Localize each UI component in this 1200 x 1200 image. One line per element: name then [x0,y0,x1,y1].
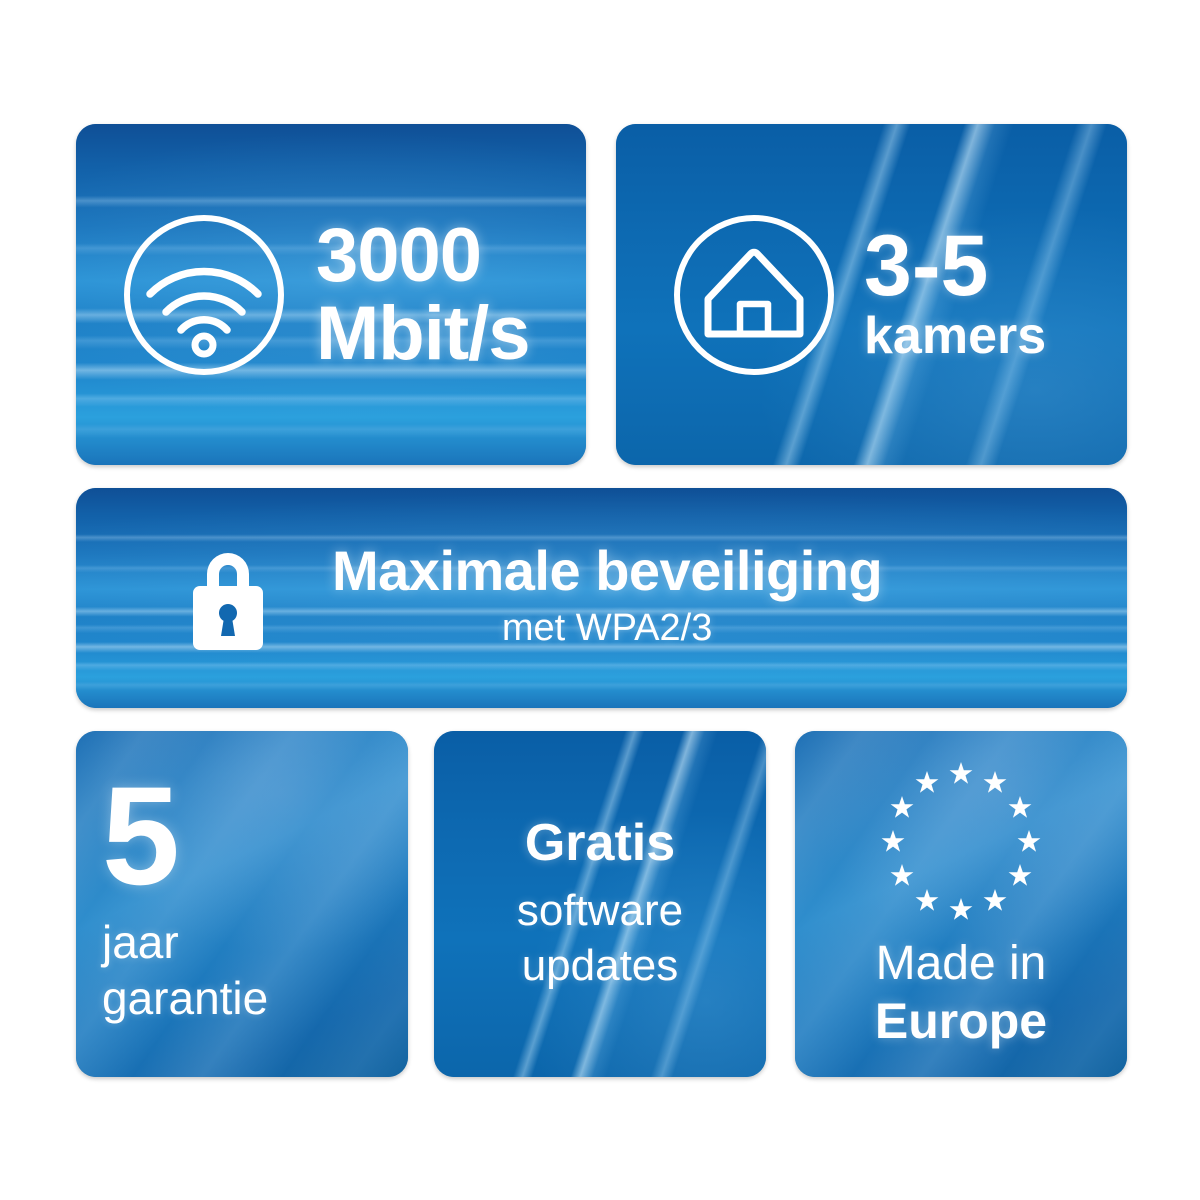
security-headline: Maximale beveiliging [332,542,882,600]
rooms-label: kamers [864,309,1046,364]
tile-content: Made in Europe [795,731,1127,1077]
padlock-icon [180,540,276,656]
tile-content: 5 jaar garantie [76,731,408,1077]
warranty-line-1: jaar [102,914,179,970]
feature-tile-board: 3000 Mbit/s 3-5 kamers [0,0,1200,1200]
feature-tile-origin: Made in Europe [795,731,1127,1077]
feature-tile-speed: 3000 Mbit/s [76,124,586,465]
speed-value: 3000 [316,217,530,295]
origin-line-1: Made in [876,936,1047,992]
security-text-block: Maximale beveiliging met WPA2/3 [332,542,922,654]
warranty-line-2: garantie [102,970,268,1026]
rooms-value: 3-5 [864,225,1046,308]
rooms-text-block: 3-5 kamers [864,225,1046,364]
speed-unit: Mbit/s [316,295,530,373]
feature-tile-rooms: 3-5 kamers [616,124,1127,465]
origin-line-2: Europe [875,992,1047,1050]
security-subline: met WPA2/3 [332,604,882,653]
feature-tile-warranty: 5 jaar garantie [76,731,408,1077]
updates-headline: Gratis [525,815,675,872]
updates-line-2: updates [522,938,679,993]
feature-tile-updates: Gratis software updates [434,731,766,1077]
eu-stars-icon [871,752,1051,922]
tile-content: Maximale beveiliging met WPA2/3 [76,488,1127,708]
tile-content: 3000 Mbit/s [76,124,586,465]
warranty-number: 5 [102,776,178,896]
speed-text-block: 3000 Mbit/s [316,217,530,372]
tile-content: Gratis software updates [434,731,766,1077]
house-icon [668,209,840,381]
wifi-icon [118,209,290,381]
tile-content: 3-5 kamers [616,124,1127,465]
updates-line-1: software [517,883,683,938]
feature-tile-security: Maximale beveiliging met WPA2/3 [76,488,1127,708]
